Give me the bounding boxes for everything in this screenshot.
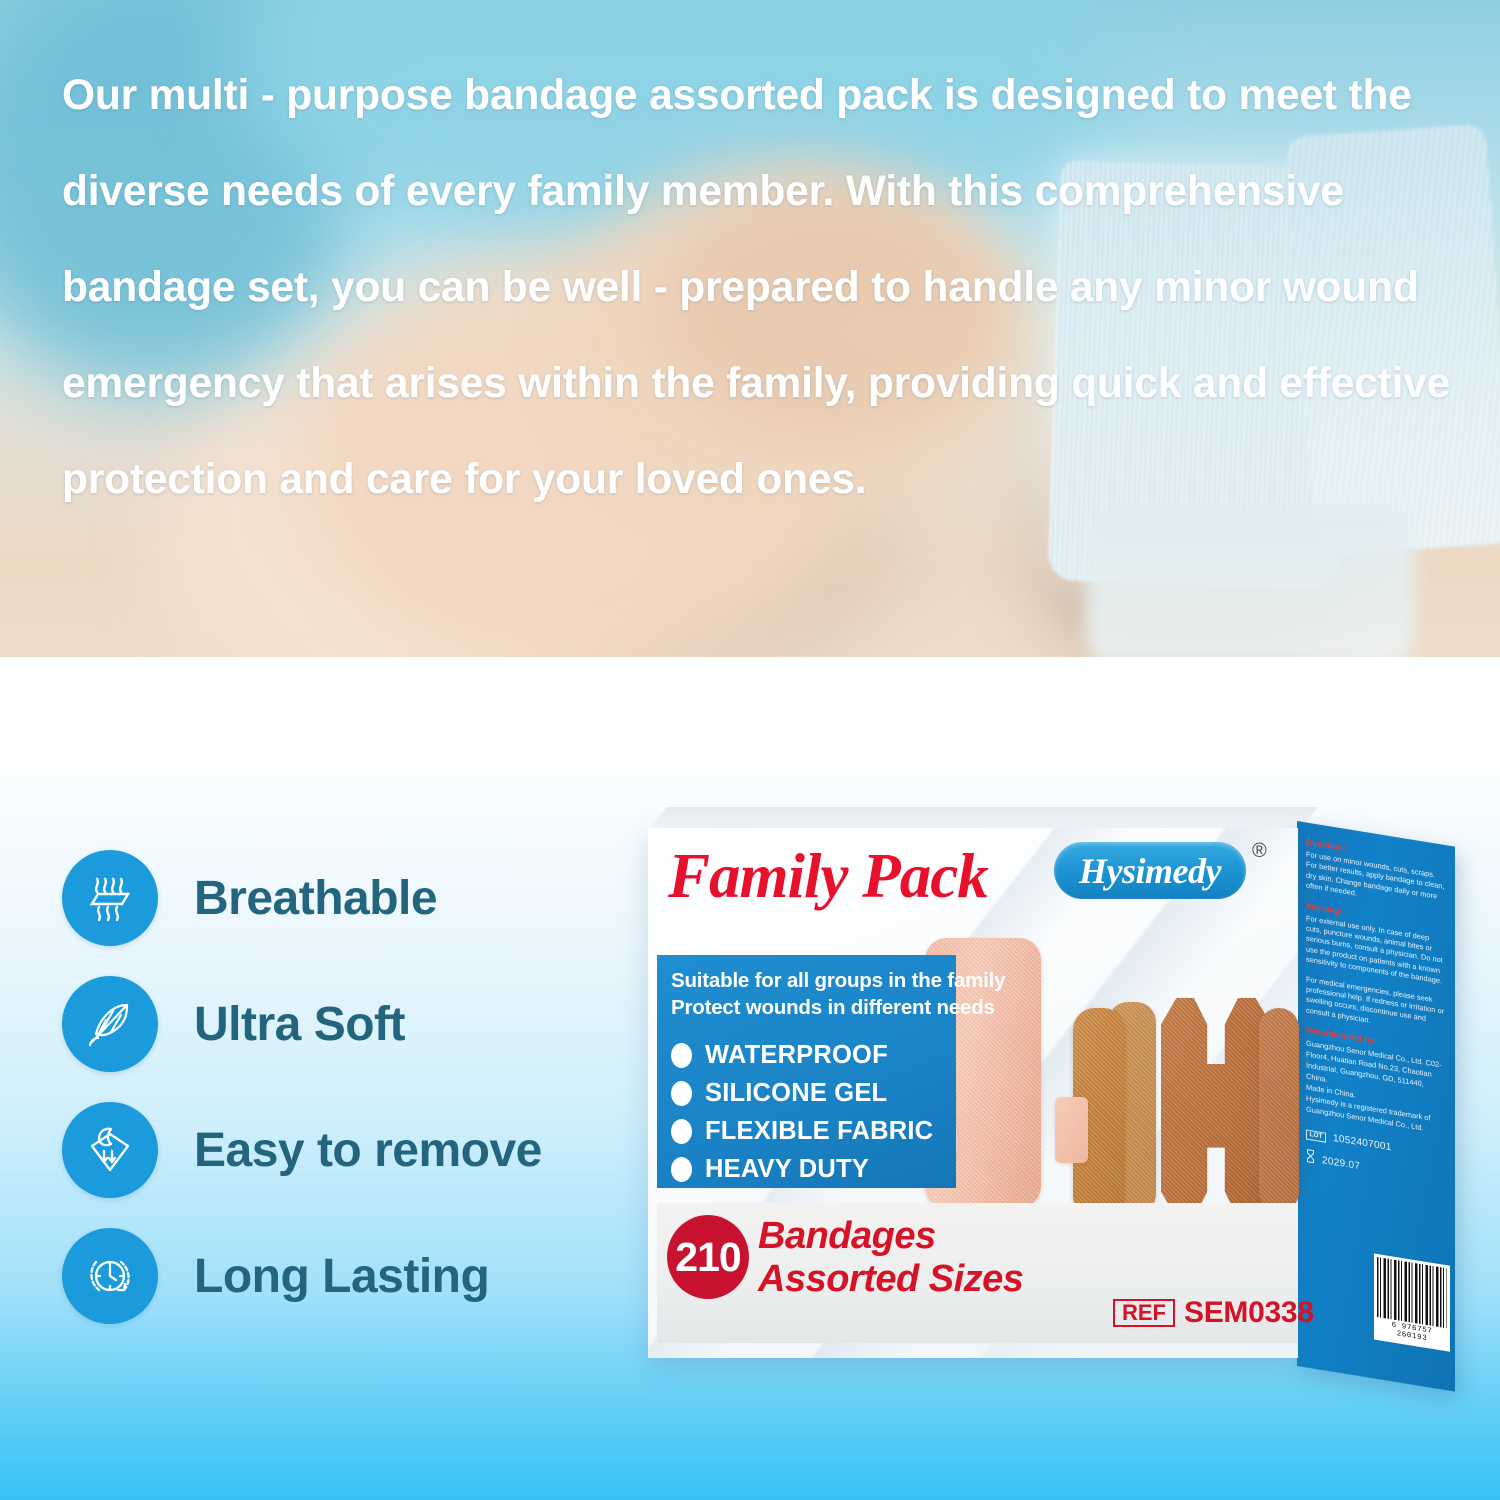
bullet-list: WATERPROOF SILICONE GEL FLEXIBLE FABRIC — [671, 1036, 956, 1188]
feature-item-long-lasting: Long Lasting — [62, 1213, 622, 1339]
bullet-item: SILICONE GEL — [671, 1074, 956, 1112]
bullet-item: FLEXIBLE FABRIC — [671, 1112, 956, 1150]
clock-arrow-icon — [62, 1228, 158, 1324]
peel-off-icon — [62, 1102, 158, 1198]
bandage-knuckle — [1161, 998, 1271, 1218]
count-badge: 210 — [667, 1215, 749, 1299]
bullet-label: FLEXIBLE FABRIC — [705, 1117, 933, 1146]
box-bottom-bar: 210 Bandages Assorted Sizes REF SEM0338 — [657, 1203, 1298, 1343]
hourglass-icon — [1306, 1149, 1315, 1169]
feature-label: Easy to remove — [194, 1123, 542, 1178]
lot-value: 1052407001 — [1333, 1133, 1392, 1153]
feature-item-easy-to-remove: Easy to remove — [62, 1087, 622, 1213]
feature-label: Long Lasting — [194, 1249, 489, 1304]
bullet-label: HEAVY DUTY — [705, 1155, 869, 1184]
count-label-line-2: Assorted Sizes — [758, 1258, 1023, 1301]
feather-icon — [62, 976, 158, 1072]
product-infographic: Our multi - purpose bandage assorted pac… — [0, 0, 1500, 1500]
bullet-item: HEAVY DUTY — [671, 1150, 956, 1188]
feature-item-breathable: Breathable — [62, 835, 622, 961]
hero-paragraph: Our multi - purpose bandage assorted pac… — [62, 48, 1462, 528]
box-title: Family Pack — [668, 840, 988, 913]
bullet-dot-icon — [671, 1081, 692, 1106]
breathable-mesh-icon — [62, 850, 158, 946]
brand-logo: Hysimedy — [1054, 842, 1246, 899]
count-value: 210 — [675, 1234, 740, 1281]
expiry-value: 2029.07 — [1322, 1155, 1360, 1172]
bullet-label: WATERPROOF — [705, 1041, 888, 1070]
count-label-line-1: Bandages — [758, 1215, 936, 1258]
bullet-label: SILICONE GEL — [705, 1079, 887, 1108]
ref-row: REF SEM0338 — [1113, 1296, 1314, 1330]
barcode-bars — [1377, 1257, 1447, 1328]
box-front-face: Family Pack Hysimedy ® — [648, 828, 1298, 1358]
ref-code: SEM0338 — [1184, 1296, 1314, 1330]
bullet-dot-icon — [671, 1119, 692, 1144]
bandage-small-strip — [1055, 1097, 1088, 1163]
product-section: Breathable Ultra Soft — [0, 657, 1500, 1500]
bullet-dot-icon — [671, 1043, 692, 1068]
lot-label: LOT — [1306, 1129, 1326, 1143]
feature-label: Ultra Soft — [194, 997, 405, 1052]
brand-name: Hysimedy — [1079, 850, 1221, 892]
bullet-item: WATERPROOF — [671, 1036, 956, 1074]
registered-mark-icon: ® — [1252, 840, 1267, 863]
box-info-panel: Suitable for all groups in the family Pr… — [657, 955, 956, 1188]
feature-list: Breathable Ultra Soft — [62, 835, 622, 1339]
barcode: 6 976757 260193 — [1374, 1253, 1450, 1351]
hero-banner: Our multi - purpose bandage assorted pac… — [0, 0, 1500, 657]
feature-label: Breathable — [194, 871, 437, 926]
bullet-dot-icon — [671, 1157, 692, 1182]
box-side-panel: Direction: For use on minor wounds, cuts… — [1297, 821, 1455, 1392]
tagline-line-1: Suitable for all groups in the family — [671, 967, 956, 994]
ref-label: REF — [1113, 1299, 1175, 1327]
tagline-line-2: Protect wounds in different needs — [671, 994, 956, 1021]
feature-item-ultra-soft: Ultra Soft — [62, 961, 622, 1087]
bandage-strip-tan — [1259, 1008, 1299, 1212]
